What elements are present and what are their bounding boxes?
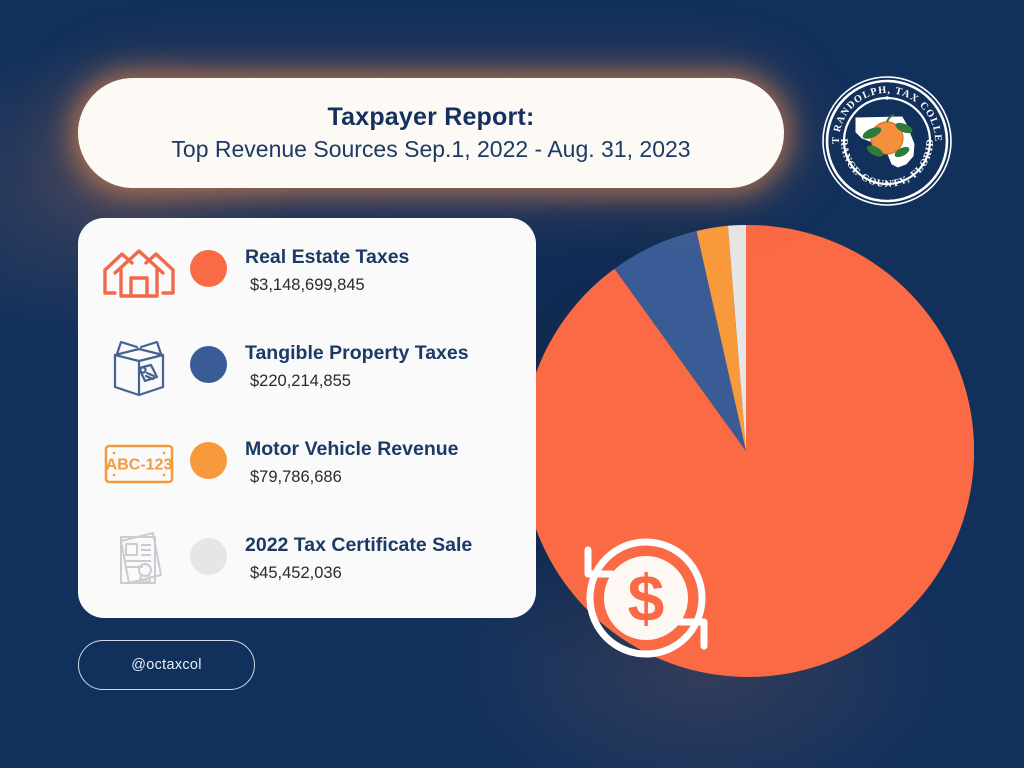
box-with-tag-icon [100, 332, 178, 404]
legend-amount-real-estate-taxes: $3,148,699,845 [245, 276, 409, 296]
dollar-refresh-icon: $ [560, 512, 732, 684]
revenue-legend-card: Real Estate Taxes $3,148,699,845 [78, 218, 536, 618]
license-plate-text: ABC-123 [106, 457, 173, 474]
license-plate-icon: ABC-123 [100, 428, 178, 500]
legend-label-tangible-property-taxes: Tangible Property Taxes [245, 342, 469, 365]
social-handle-label: @octaxcol [131, 657, 202, 673]
svg-text:$: $ [628, 561, 665, 635]
legend-color-swatch-real-estate-taxes [190, 250, 227, 287]
social-handle-pill[interactable]: @octaxcol [78, 640, 255, 690]
legend-label-tax-certificate-sale: 2022 Tax Certificate Sale [245, 534, 472, 557]
report-title-card: Taxpayer Report: Top Revenue Sources Sep… [78, 78, 784, 188]
legend-item-tax-certificate-sale[interactable]: 2022 Tax Certificate Sale $45,452,036 [78, 522, 536, 618]
page-title: Taxpayer Report: [328, 103, 535, 132]
legend-item-motor-vehicle-revenue[interactable]: ABC-123 Motor Vehicle Revenue $79,786,68… [78, 426, 536, 522]
legend-label-real-estate-taxes: Real Estate Taxes [245, 246, 409, 269]
legend-amount-tangible-property-taxes: $220,214,855 [245, 372, 469, 392]
legend-item-real-estate-taxes[interactable]: Real Estate Taxes $3,148,699,845 [78, 234, 536, 330]
legend-amount-tax-certificate-sale: $45,452,036 [245, 564, 472, 584]
legend-item-tangible-property-taxes[interactable]: Tangible Property Taxes $220,214,855 [78, 330, 536, 426]
page-subtitle: Top Revenue Sources Sep.1, 2022 - Aug. 3… [171, 136, 690, 162]
legend-amount-motor-vehicle-revenue: $79,786,686 [245, 468, 458, 488]
legend-color-swatch-tangible-property-taxes [190, 346, 227, 383]
legend-label-motor-vehicle-revenue: Motor Vehicle Revenue [245, 438, 458, 461]
houses-icon [100, 236, 178, 308]
legend-color-swatch-motor-vehicle-revenue [190, 442, 227, 479]
legend-color-swatch-tax-certificate-sale [190, 538, 227, 575]
certificate-icon [100, 524, 178, 596]
tax-collector-seal-icon: SCOTT RANDOLPH, TAX COLLECTOR ORANGE COU… [818, 72, 956, 210]
